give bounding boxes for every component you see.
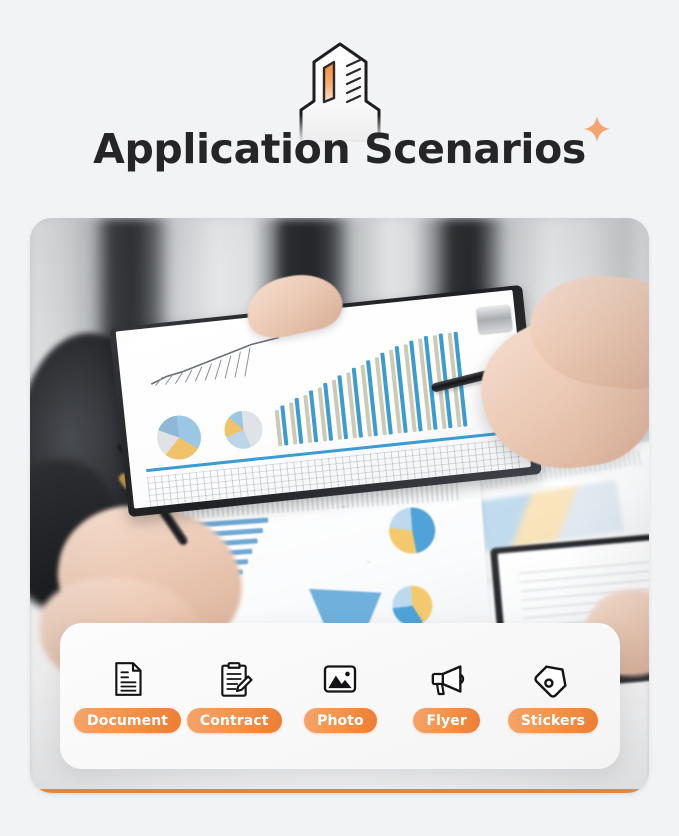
title-wrap: Application Scenarios: [93, 128, 586, 171]
page-title: Application Scenarios: [93, 125, 586, 173]
photo-bar-chart: [269, 329, 493, 446]
category-pill-contract[interactable]: Contract: [187, 708, 282, 733]
category-pill-flyer[interactable]: Flyer: [413, 708, 479, 733]
category-item-contract[interactable]: Contract: [181, 659, 287, 733]
tag-icon: [533, 659, 573, 699]
sparkle-icon: [582, 114, 612, 144]
category-item-document[interactable]: Document: [74, 659, 181, 733]
document-icon: [108, 659, 148, 699]
category-card: Document Contract Photo: [60, 623, 620, 769]
photo-trend-line: [146, 334, 289, 388]
title-row: Application Scenarios: [0, 128, 679, 171]
clipboard-pen-icon: [214, 659, 254, 699]
category-pill-stickers[interactable]: Stickers: [508, 708, 598, 733]
photo-pie-chart-1: [155, 413, 203, 461]
photo-clipboard-clip: [476, 304, 513, 333]
category-item-stickers[interactable]: Stickers: [500, 659, 606, 733]
photo-sheet-pie-2: [391, 584, 434, 627]
photo-pie-chart-2: [223, 409, 265, 451]
photo-sheet-line-chart: [301, 503, 397, 567]
category-item-photo[interactable]: Photo: [287, 659, 393, 733]
category-pill-document[interactable]: Document: [74, 708, 181, 733]
page-header: Application Scenarios: [0, 0, 679, 215]
photo-sheet-pie-1: [388, 506, 437, 555]
category-item-flyer[interactable]: Flyer: [394, 659, 500, 733]
image-icon: [320, 659, 360, 699]
megaphone-icon: [427, 659, 467, 699]
category-pill-photo[interactable]: Photo: [304, 708, 377, 733]
